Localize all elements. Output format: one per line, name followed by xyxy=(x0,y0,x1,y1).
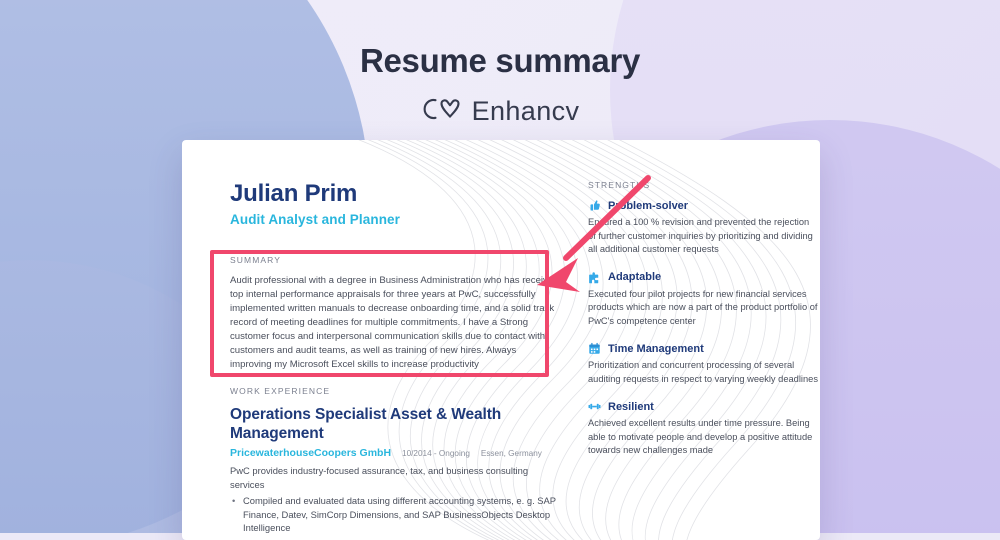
job-entry[interactable]: Operations Specialist Asset & Wealth Man… xyxy=(230,405,560,540)
strength-item-time-management[interactable]: Time Management Prioritization and concu… xyxy=(588,342,818,386)
enhancv-cv-logo-icon xyxy=(421,96,461,127)
page-title: Resume summary xyxy=(0,42,1000,80)
strength-description: Achieved excellent results under time pr… xyxy=(588,417,818,458)
strength-name: Resilient xyxy=(608,401,654,413)
puzzle-piece-icon xyxy=(588,271,601,284)
strength-description: Executed four pilot projects for new fin… xyxy=(588,288,818,329)
strength-name: Problem-solver xyxy=(608,200,688,212)
job-location: Essen, Germany xyxy=(481,449,542,458)
strength-description: Ensured a 100 % revision and prevented t… xyxy=(588,216,818,257)
resume-side-column: STRENGTHS Problem-solver Ensured a 100 %… xyxy=(588,180,818,540)
candidate-role: Audit Analyst and Planner xyxy=(230,212,560,227)
job-description: PwC provides industry-focused assurance,… xyxy=(230,464,560,491)
strength-header: Time Management xyxy=(588,342,818,355)
page-header: Resume summary Enhancv xyxy=(0,0,1000,127)
summary-text: Audit professional with a degree in Busi… xyxy=(230,274,560,372)
resume-preview-card[interactable]: Julian Prim Audit Analyst and Planner SU… xyxy=(182,140,820,540)
job-title: Operations Specialist Asset & Wealth Man… xyxy=(230,405,560,443)
strength-header: Resilient xyxy=(588,400,818,413)
calendar-icon xyxy=(588,342,601,355)
strength-name: Adaptable xyxy=(608,271,661,283)
summary-section-label: SUMMARY xyxy=(230,255,560,265)
strength-header: Problem-solver xyxy=(588,199,818,212)
thumbs-up-icon xyxy=(588,199,601,212)
job-bullet: Compiled and evaluated data using differ… xyxy=(230,494,560,535)
strength-item-resilient[interactable]: Resilient Achieved excellent results und… xyxy=(588,400,818,458)
resume-main-column: Julian Prim Audit Analyst and Planner SU… xyxy=(230,180,560,540)
dumbbell-icon xyxy=(588,400,601,413)
job-dates: 10/2014 - Ongoing xyxy=(402,449,470,458)
work-experience-section[interactable]: WORK EXPERIENCE Operations Specialist As… xyxy=(230,386,560,540)
strength-name: Time Management xyxy=(608,343,704,355)
brand-name: Enhancv xyxy=(472,96,580,127)
brand-lockup: Enhancv xyxy=(421,96,580,127)
strength-item-problem-solver[interactable]: Problem-solver Ensured a 100 % revision … xyxy=(588,199,818,257)
job-bullet: Test of operating effectiveness of inter… xyxy=(230,537,560,540)
strength-header: Adaptable xyxy=(588,271,818,284)
candidate-name: Julian Prim xyxy=(230,180,560,208)
strengths-section-label: STRENGTHS xyxy=(588,180,818,190)
job-meta: PricewaterhouseCoopers GmbH 10/2014 - On… xyxy=(230,447,560,459)
strength-description: Prioritization and concurrent processing… xyxy=(588,359,818,386)
job-bullet-list: Compiled and evaluated data using differ… xyxy=(230,494,560,540)
strength-item-adaptable[interactable]: Adaptable Executed four pilot projects f… xyxy=(588,271,818,329)
work-experience-label: WORK EXPERIENCE xyxy=(230,386,560,396)
job-company: PricewaterhouseCoopers GmbH xyxy=(230,447,391,459)
summary-section[interactable]: SUMMARY Audit professional with a degree… xyxy=(230,255,560,372)
